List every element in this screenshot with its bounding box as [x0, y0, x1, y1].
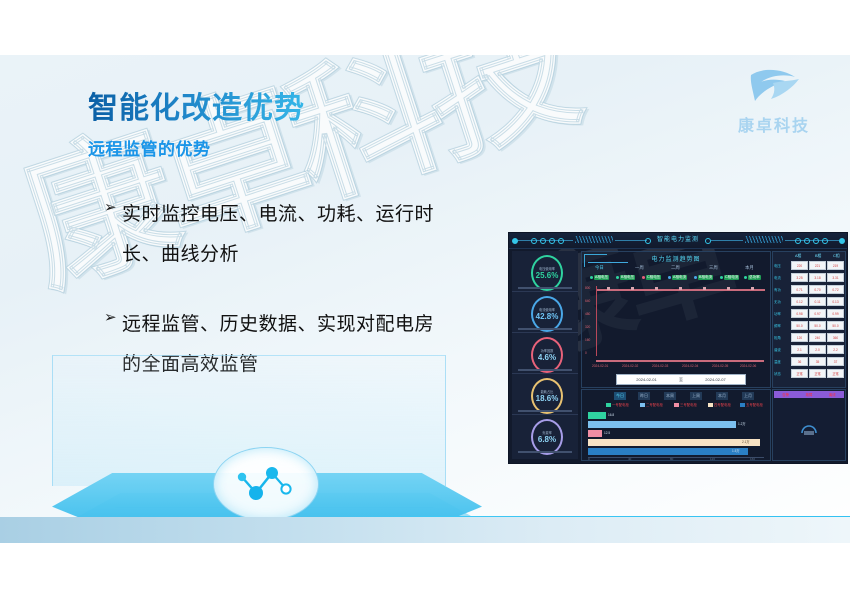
- table-cell: 37: [827, 357, 844, 366]
- gauge-ring: 能耗占比 18.6%: [531, 378, 563, 414]
- row-label: 电压: [774, 263, 781, 269]
- table-row[interactable]: 状态 正常 正常 正常: [773, 368, 845, 381]
- dashboard-screenshot: 康卓 智能电力监测 电压使用率: [508, 232, 848, 464]
- bullet-text-1: 实时监控电压、电流、功耗、运行时长、曲线分析: [122, 195, 434, 275]
- date-start[interactable]: 2024-02-01: [617, 377, 676, 382]
- bottom-band: [0, 517, 850, 543]
- legend-label: 一号配电柜: [612, 402, 629, 407]
- network-nodes-icon: [226, 463, 304, 507]
- table-cell: 0.72: [827, 285, 844, 294]
- axis-tick: 40: [628, 457, 631, 461]
- gauge-progress-bar: [518, 369, 572, 371]
- axis-tick: 160: [750, 457, 755, 461]
- power-gauge-icon: [799, 420, 819, 436]
- trend-chart-panel: 电力监测趋势图 今日 一周 二周 三周 本月 A相电压 B相电压 C相电压 A相…: [581, 251, 771, 388]
- row-label: 相角: [774, 335, 781, 341]
- y-tick: 480: [585, 312, 590, 316]
- legend-item[interactable]: C相电流: [720, 275, 739, 280]
- table-header-a: A相: [795, 254, 801, 259]
- table-cell: 3.25: [791, 273, 808, 282]
- gauge-item[interactable]: 能耗占比 18.6%: [512, 374, 578, 415]
- gauge-value: 6.8%: [538, 435, 556, 444]
- legend-item[interactable]: C相电压: [642, 275, 661, 280]
- legend-item[interactable]: B相电流: [694, 275, 713, 280]
- y-tick: 160: [585, 338, 590, 342]
- alarm-status-panel: 告警 故障 离线: [772, 389, 846, 461]
- fault-label: 故障: [806, 392, 813, 397]
- table-cell: 0.13: [827, 297, 844, 306]
- bullet-item-1: ➢ 实时监控电压、电流、功耗、运行时长、曲线分析: [104, 195, 434, 275]
- table-cell: 50.0: [809, 321, 826, 330]
- y-tick: 640: [585, 299, 590, 303]
- bar-chart-legend: 一号配电柜 二号配电柜 三号配电柜 四号配电柜 五号配电柜: [588, 402, 766, 409]
- legend-item[interactable]: 二号配电柜: [640, 402, 663, 407]
- table-cell: 3.31: [827, 273, 844, 282]
- gauge-value: 25.6%: [536, 271, 559, 280]
- bullet-marker-icon: ➢: [104, 199, 118, 217]
- phase-data-table: A相 B相 C相 电压 220 221 219 电流 3.25 3.18 3.3…: [772, 251, 846, 388]
- table-cell: 2.1: [791, 345, 808, 354]
- legend-item[interactable]: 三号配电柜: [674, 402, 697, 407]
- bar-5[interactable]: [588, 448, 748, 455]
- date-end[interactable]: 2024-02-07: [686, 377, 745, 382]
- tab-week2[interactable]: 二周: [668, 264, 683, 272]
- y-tick: 320: [585, 325, 590, 329]
- trend-legend: A相电压 B相电压 C相电压 A相电流 B相电流 C相电流 总功率: [590, 275, 766, 283]
- table-cell: 0.70: [809, 285, 826, 294]
- energy-bar-chart-panel: 今日 昨日 本周 上周 本月 上月 一号配电柜 二号配电柜 三号配电柜 四号配电…: [581, 389, 771, 461]
- table-cell: 0.98: [791, 309, 808, 318]
- legend-item[interactable]: B相电压: [616, 275, 635, 280]
- row-label: 频率: [774, 323, 781, 329]
- legend-item[interactable]: 一号配电柜: [606, 402, 629, 407]
- logo-text: 康卓科技: [724, 112, 824, 136]
- x-tick: 2024-02-01: [592, 364, 608, 368]
- platform-graphic: [38, 355, 498, 543]
- legend-label: C相电流: [724, 275, 739, 280]
- btab-yesterday[interactable]: 昨日: [638, 392, 650, 400]
- bar-chart-axis: [588, 457, 764, 458]
- legend-label: C相电压: [646, 275, 661, 280]
- y-tick: 800: [585, 286, 590, 290]
- gauge-item[interactable]: 功率因数 4.6%: [512, 333, 578, 374]
- legend-label: 三号配电柜: [680, 402, 697, 407]
- date-range-separator: 至: [676, 377, 686, 383]
- table-cell: 0.71: [791, 285, 808, 294]
- dashboard-title: 智能电力监测: [509, 234, 847, 243]
- row-label: 状态: [774, 371, 781, 377]
- table-cell: 0.97: [809, 309, 826, 318]
- tab-week3[interactable]: 三周: [706, 264, 721, 272]
- gauge-value: 4.6%: [538, 353, 556, 362]
- legend-label: 四号配电柜: [714, 402, 731, 407]
- table-cell: 50.0: [827, 321, 844, 330]
- table-cell: 正常: [809, 369, 826, 378]
- axis-tick: 0: [588, 457, 590, 461]
- legend-item[interactable]: 四号配电柜: [708, 402, 731, 407]
- bar-2[interactable]: [588, 421, 736, 428]
- trend-plot-area: 800 640 480 320 160 0: [596, 286, 765, 356]
- legend-item[interactable]: 五号配电柜: [740, 402, 763, 407]
- table-cell: 120: [791, 333, 808, 342]
- legend-item[interactable]: A相电流: [668, 275, 687, 280]
- date-range-picker[interactable]: 2024-02-01 至 2024-02-07: [616, 374, 746, 385]
- table-header-c: C相: [833, 254, 840, 259]
- table-cell: 220: [791, 261, 808, 270]
- gauge-ring: 负载率 6.8%: [531, 419, 563, 455]
- table-header-b: B相: [815, 254, 821, 259]
- alarm-status-header: 告警 故障 离线: [774, 391, 844, 398]
- legend-label: A相电流: [672, 275, 687, 280]
- legend-label: 总功率: [748, 275, 761, 280]
- bullet-marker-icon: ➢: [104, 309, 118, 327]
- table-cell: 0.11: [809, 297, 826, 306]
- bar-value-5: 1.5万: [732, 448, 740, 455]
- btab-this-week[interactable]: 本周: [664, 392, 676, 400]
- table-cell: 36: [791, 357, 808, 366]
- table-cell: 50.0: [791, 321, 808, 330]
- slide-canvas: 康卓科技 智能化改造优势 远程监管的优势 ➢ 实时监控电压、电流、功耗、运行时长…: [0, 55, 850, 543]
- axis-tick: 120: [710, 457, 715, 461]
- tab-today[interactable]: 今日: [592, 264, 607, 272]
- table-cell: 35: [809, 357, 826, 366]
- table-cell: 0.99: [827, 309, 844, 318]
- bar-1[interactable]: [588, 412, 606, 419]
- bar-value-1: 16.8: [608, 412, 614, 419]
- table-cell: 240: [809, 333, 826, 342]
- page-title: 智能化改造优势: [88, 83, 305, 127]
- legend-label: 二号配电柜: [646, 402, 663, 407]
- gauge-column: 电压使用率 25.6% 电流使用率 42.8% 功率因数 4.6%: [512, 251, 578, 459]
- table-cell: 正常: [791, 369, 808, 378]
- bar-value-4: 2.1万: [742, 439, 750, 446]
- gauge-progress-bar: [518, 287, 572, 289]
- row-label: 有功: [774, 287, 781, 293]
- gauge-ring: 电流使用率 42.8%: [531, 296, 563, 332]
- btab-today[interactable]: 今日: [614, 392, 626, 400]
- company-logo: 康卓科技: [724, 65, 824, 136]
- x-tick: 2024-02-02: [622, 364, 638, 368]
- page-subtitle: 远程监管的优势: [88, 135, 211, 160]
- trend-x-axis: [596, 360, 764, 362]
- gauge-value: 42.8%: [536, 312, 559, 321]
- y-tick: 0: [585, 351, 587, 355]
- legend-label: B相电压: [620, 275, 635, 280]
- legend-item[interactable]: 总功率: [744, 275, 761, 280]
- table-cell: 3.18: [809, 273, 826, 282]
- bar-value-2: 1.2万: [738, 421, 746, 428]
- table-cell: 正常: [827, 369, 844, 378]
- legend-item[interactable]: A相电压: [590, 275, 609, 280]
- row-label: 电流: [774, 275, 781, 281]
- gauge-value: 18.6%: [536, 394, 559, 403]
- x-tick: 2024-02-03: [652, 364, 668, 368]
- tab-week1[interactable]: 一周: [632, 264, 647, 272]
- gauge-ring: 电压使用率 25.6%: [531, 255, 563, 291]
- row-label: 谐波: [774, 347, 781, 353]
- row-label: 温度: [774, 359, 781, 365]
- dashboard-header: 智能电力监测: [509, 233, 847, 249]
- table-cell: 219: [827, 261, 844, 270]
- x-tick: 2024-02-05: [712, 364, 728, 368]
- table-cell: 360: [827, 333, 844, 342]
- row-label: 功率: [774, 311, 781, 317]
- table-cell: 0.12: [791, 297, 808, 306]
- table-cell: 2.2: [827, 345, 844, 354]
- x-tick: 2024-02-06: [740, 364, 756, 368]
- gauge-item[interactable]: 电压使用率 25.6%: [512, 251, 578, 292]
- offline-label: 离线: [829, 392, 836, 397]
- bar-4[interactable]: [588, 439, 760, 446]
- row-label: 无功: [774, 299, 781, 305]
- table-cell: 221: [809, 261, 826, 270]
- gauge-item[interactable]: 负载率 6.8%: [512, 415, 578, 455]
- logo-mark-icon: [743, 65, 805, 105]
- bar-chart-tab-bar: 今日 昨日 本周 上周 本月 上月: [586, 392, 766, 400]
- legend-label: A相电压: [594, 275, 609, 280]
- legend-label: 五号配电柜: [746, 402, 763, 407]
- gauge-progress-bar: [518, 410, 572, 412]
- btab-last-month[interactable]: 上月: [742, 392, 754, 400]
- btab-this-month[interactable]: 本月: [716, 392, 728, 400]
- gauge-progress-bar: [518, 451, 572, 453]
- btab-last-week[interactable]: 上周: [690, 392, 702, 400]
- trend-tab-bar: 今日 一周 二周 三周 本月: [588, 264, 764, 274]
- gauge-item[interactable]: 电流使用率 42.8%: [512, 292, 578, 333]
- legend-label: B相电流: [698, 275, 713, 280]
- bar-value-3: 12.5: [604, 430, 610, 437]
- alarm-label: 告警: [782, 392, 789, 397]
- tab-month[interactable]: 本月: [742, 264, 757, 272]
- table-cell: 2.0: [809, 345, 826, 354]
- gauge-progress-bar: [518, 328, 572, 330]
- bar-3[interactable]: [588, 430, 602, 437]
- gauge-ring: 功率因数 4.6%: [531, 337, 563, 373]
- axis-tick: 80: [670, 457, 673, 461]
- x-tick: 2024-02-04: [682, 364, 698, 368]
- tab-active-underline: [588, 262, 628, 263]
